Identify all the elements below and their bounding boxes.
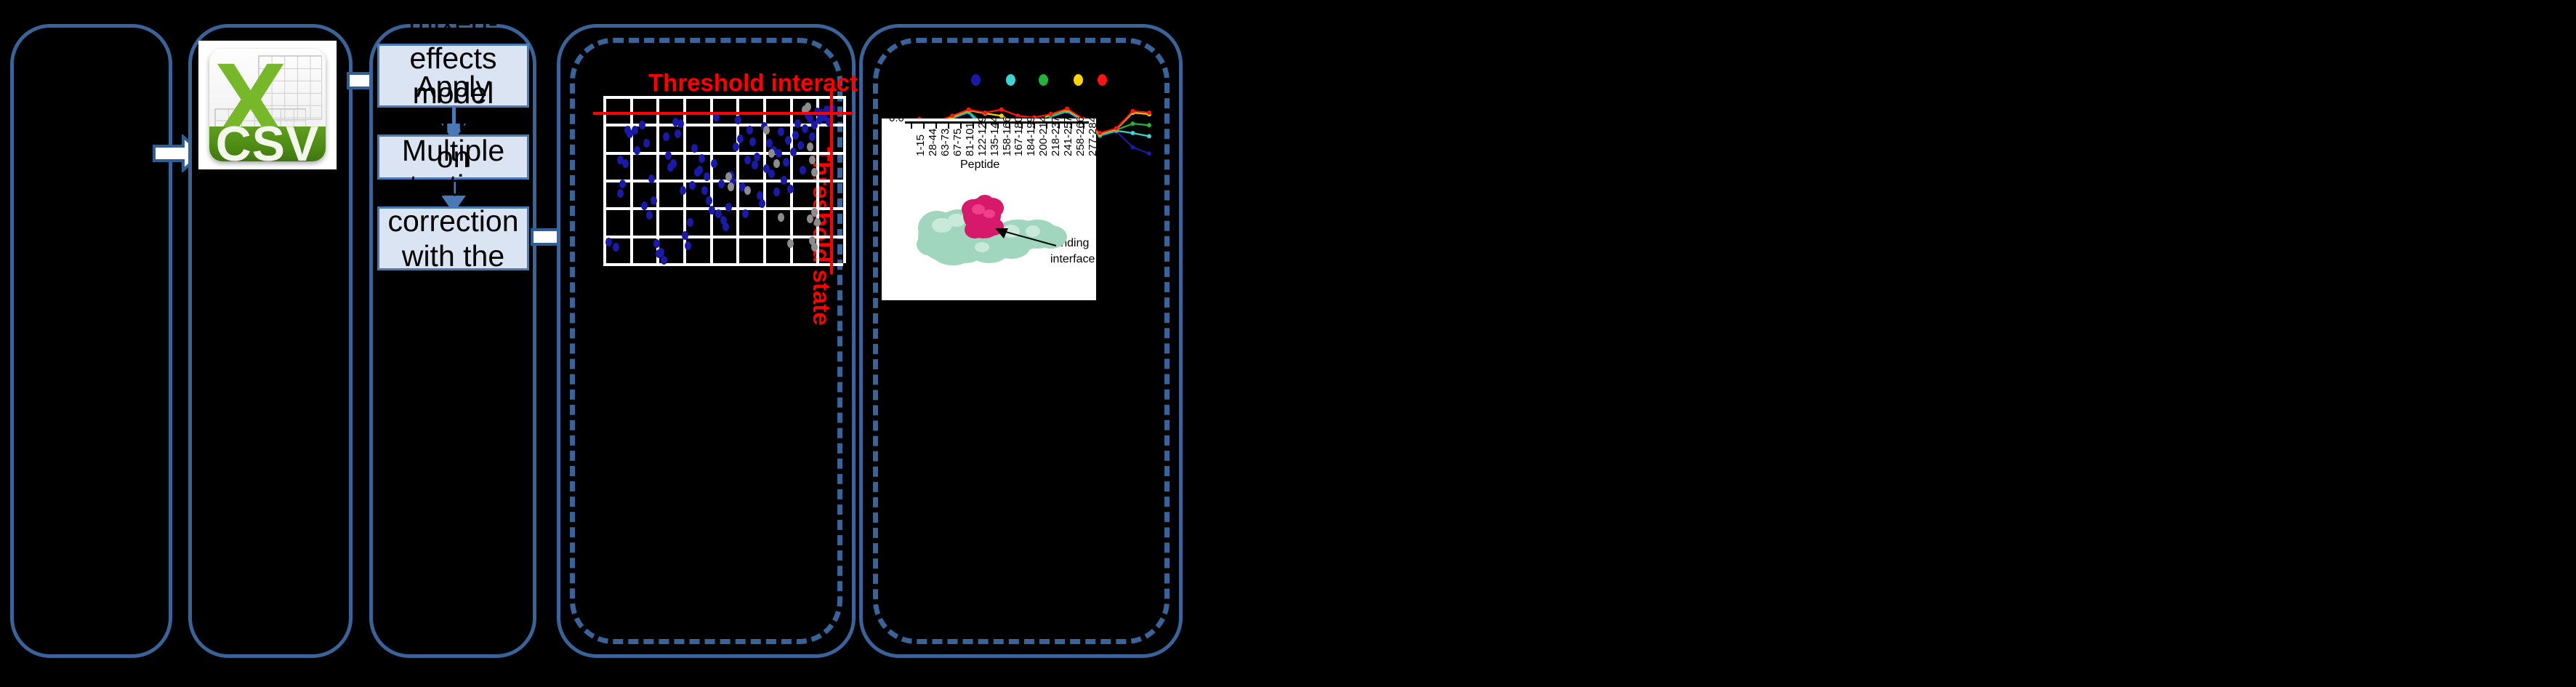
step-bh-line3-post: procedure	[386, 310, 520, 343]
scatter-point	[754, 153, 760, 161]
scatter-point	[689, 181, 696, 190]
scatter-point	[757, 191, 763, 200]
x-axis-tick	[1021, 124, 1023, 129]
scatter-point	[658, 248, 664, 257]
structure-blob	[983, 209, 995, 218]
scatter-point	[763, 126, 770, 134]
peptide-tick-label: 67-75	[951, 129, 964, 156]
scatter-point	[814, 218, 821, 227]
csv-icon-label-band: CSV	[209, 126, 326, 161]
gridline-vertical	[790, 96, 793, 263]
scatter-point	[752, 161, 758, 169]
threshold-state-line	[830, 89, 833, 274]
gridline-vertical	[763, 96, 766, 263]
series-marker	[1130, 145, 1135, 149]
scatter-point	[622, 159, 629, 168]
step-bh-box: Multiple testing correction with the BH …	[377, 206, 529, 270]
x-axis-tick	[973, 124, 974, 129]
scatter-point	[711, 159, 717, 168]
scatter-point	[809, 132, 816, 141]
structure-blob	[948, 214, 965, 227]
peptide-tick-label: 184-199	[1025, 116, 1037, 156]
x-axis-tick	[960, 124, 962, 129]
peptide-tick-label: 277-284	[1087, 116, 1099, 156]
scatter-point	[646, 211, 653, 220]
x-axis-tick	[1071, 124, 1072, 129]
gridline-vertical	[656, 96, 659, 263]
scatter-point	[778, 127, 784, 136]
gridline-vertical	[710, 96, 713, 263]
scatter-point	[680, 186, 686, 195]
x-axis-tick	[1034, 124, 1035, 129]
step-bh-line1: Multiple testing	[402, 134, 504, 202]
scatter-point	[737, 134, 744, 143]
step-bh-bold: BH	[432, 274, 475, 308]
scatter-point	[809, 156, 816, 164]
step-wald-line1-pre: Apply	[416, 70, 491, 103]
scatter-point	[718, 180, 725, 188]
scatter-point	[651, 196, 657, 205]
series-marker	[1114, 126, 1119, 131]
series-marker	[983, 111, 987, 115]
peptide-tick-label: 81-101	[964, 122, 976, 156]
scatter-point	[759, 199, 765, 208]
scatter-point	[735, 116, 741, 124]
x-axis-tick	[1009, 124, 1010, 129]
scatter-point	[701, 186, 708, 195]
scatter-point	[665, 151, 672, 160]
gridline-horizontal	[603, 263, 843, 266]
workflow-diagram: X CSV Fit a linear mixed- effects model …	[0, 0, 2576, 687]
x-axis-tick	[985, 124, 986, 129]
scatter-point	[807, 142, 813, 151]
scatter-point	[699, 154, 705, 163]
protein-structure-image	[902, 180, 1084, 278]
figure-xlabel: Peptide	[960, 158, 999, 172]
structure-blob	[1026, 225, 1040, 237]
peptide-tick-label: 28-44	[927, 129, 939, 156]
peptide-tick-label: 167-180	[1013, 116, 1025, 156]
scatter-point	[613, 243, 619, 252]
x-axis-tick	[923, 124, 925, 129]
peptide-tick-label: 258-266	[1074, 116, 1087, 156]
structure-blob	[965, 221, 985, 238]
scatter-point	[778, 213, 784, 222]
scatter-point	[663, 132, 669, 141]
scatter-point	[783, 158, 789, 166]
scatter-point	[725, 203, 732, 212]
series-marker	[1065, 107, 1069, 111]
csv-file-icon: X CSV	[198, 41, 337, 169]
csv-icon-body: X CSV	[209, 49, 326, 162]
structure-blob	[1035, 225, 1067, 249]
scatter-point	[675, 129, 681, 138]
scatter-point	[685, 241, 691, 250]
scatter-point	[811, 168, 818, 177]
scatter-point	[787, 239, 794, 248]
scatter-point	[768, 169, 775, 178]
scatter-point	[785, 136, 792, 145]
scatter-point	[773, 159, 780, 168]
scatter-point	[648, 174, 655, 183]
series-marker	[1147, 151, 1151, 156]
csv-icon-label: CSV	[216, 116, 320, 161]
scatter-point	[744, 156, 751, 164]
scatter-grid	[603, 96, 843, 263]
scatter-point	[746, 126, 753, 134]
scatter-point	[617, 189, 624, 198]
scatter-point	[696, 166, 703, 174]
step-bh-line2: correction	[388, 204, 519, 238]
gridline-vertical	[843, 96, 846, 263]
peptide-figure-panel: Peptide Binding interface 0.01-1528-4463…	[882, 118, 1096, 300]
peptide-tick-label: 135-144	[989, 116, 1001, 156]
series-marker	[1130, 131, 1135, 135]
x-axis-tick	[911, 124, 912, 129]
peptide-tick-label: 122-129	[976, 116, 989, 156]
scatter-point	[605, 238, 612, 246]
scatter-point	[677, 119, 684, 128]
peptide-tick-label: 1-15	[914, 134, 927, 156]
scatter-point	[723, 222, 729, 231]
scatter-point	[776, 149, 782, 158]
scatter-point	[682, 231, 688, 240]
gridline-horizontal	[603, 207, 843, 210]
scatter-point	[787, 185, 794, 193]
scatter-point	[802, 124, 808, 133]
gridline-horizontal	[603, 96, 843, 99]
series-marker	[950, 113, 954, 118]
scatter-point	[725, 172, 732, 181]
series-marker	[1147, 123, 1151, 127]
scatter-point	[744, 186, 751, 195]
scatter-point	[728, 182, 734, 191]
structure-blob	[972, 204, 985, 214]
scatter-point	[790, 148, 797, 156]
input-data-panel	[10, 24, 172, 658]
series-marker	[1147, 111, 1151, 115]
y-axis-tick-zero: 0.0	[889, 112, 904, 124]
scatter-point	[773, 188, 780, 196]
scatter-point	[687, 218, 693, 227]
scatter-point	[768, 149, 775, 158]
x-axis-tick	[935, 124, 937, 129]
scatter-point	[805, 103, 811, 111]
scatter-point	[797, 141, 804, 150]
series-marker	[967, 108, 971, 112]
structure-blob	[975, 242, 989, 252]
scatter-point	[733, 142, 739, 151]
x-axis-tick	[1046, 124, 1047, 129]
gridline-horizontal	[603, 236, 843, 238]
csv-icon-x-letter: X	[214, 51, 256, 101]
peptide-tick-label: 63-73	[939, 129, 951, 156]
scatter-point	[643, 139, 650, 148]
scatter-point	[639, 121, 645, 129]
scatter-point	[661, 256, 667, 265]
peptide-tick-label: 241-257	[1062, 116, 1074, 156]
threshold-interaction-label: Threshold interaction	[648, 69, 893, 97]
scatter-point	[619, 180, 626, 188]
x-axis-tick	[948, 124, 949, 129]
structure-blob	[992, 236, 1030, 259]
scatter-point	[706, 196, 712, 205]
scatter-point	[781, 176, 787, 185]
series-marker	[1147, 134, 1151, 138]
peptide-tick-label: 218-237	[1050, 116, 1062, 156]
scatter-point	[807, 214, 813, 223]
scatter-point	[634, 146, 640, 155]
x-axis-tick	[1058, 124, 1060, 129]
x-axis-tick	[997, 124, 999, 129]
scatter-point	[749, 137, 756, 146]
gridline-vertical	[630, 96, 633, 263]
scatter-point	[632, 126, 638, 134]
series-marker	[1130, 109, 1135, 113]
x-axis-tick	[1083, 124, 1084, 129]
peptide-tick-label: 200-214	[1037, 116, 1050, 156]
scatter-point	[653, 239, 660, 248]
series-marker	[999, 108, 1004, 112]
structure-blob	[931, 244, 957, 262]
series-marker	[1130, 121, 1135, 126]
step-bh-line3-pre: with the	[402, 239, 504, 273]
scatter-point	[792, 131, 799, 140]
volcano-scatter-plot: Threshold interaction Threshold state	[570, 38, 842, 644]
scatter-point	[800, 166, 806, 174]
scatter-point	[742, 209, 749, 218]
scatter-point	[670, 159, 677, 168]
step-reml-line1: Fit a linear mixed-	[408, 0, 498, 39]
peptide-tick-label: 158-166	[1001, 116, 1013, 156]
scatter-point	[641, 201, 648, 210]
scatter-point	[709, 206, 715, 214]
gridline-vertical	[603, 96, 606, 263]
threshold-interaction-line	[593, 112, 853, 115]
